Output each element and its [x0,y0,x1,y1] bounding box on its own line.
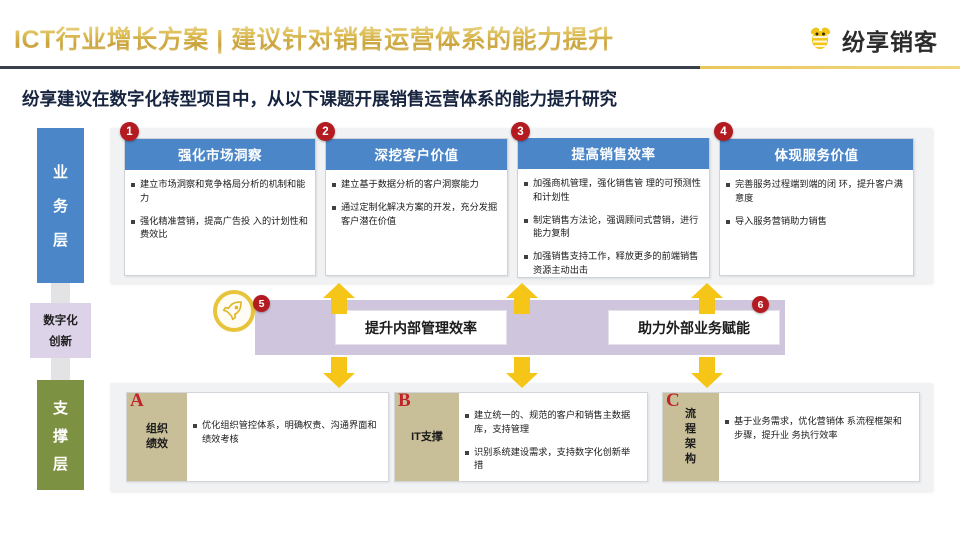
rocket-icon [213,290,255,332]
layer-char: 层 [53,229,68,250]
layer-char: 支 [53,397,68,418]
bullet-text: 建立统一的、规范的客户和销售主数据库，支持管理 [474,409,639,437]
brand-name: 纷享销客 [842,23,938,57]
bullet-item: 通过定制化解决方案的开发，充分发掘客户潜在价值 [332,201,500,229]
business-card-4-body: 完善服务过程端到端的闭 环，提升客户满意度 导入服务营销助力销售 [720,170,913,275]
bullet-item: 完善服务过程端到端的闭 环，提升客户满意度 [726,178,906,206]
business-card-4-title: 体现服务价值 [720,139,913,170]
bullet-marker-icon [332,206,336,210]
tag-char: 架 [685,437,697,452]
badge-5: 5 [253,295,270,312]
layer-label-support: 支 撑 层 [37,380,84,490]
bullet-text: 建立基于数据分析的客户洞察能力 [341,178,500,192]
layer-char: 数字化 [43,312,78,328]
tag-char: IT支撑 [411,430,443,445]
layer-label-digital: 数字化 创新 [30,303,91,358]
bullet-text: 加强销售支持工作，释放更多的前端销售资源主动出击 [533,250,702,278]
bullet-text: 建立市场洞察和竞争格局分析的机制和能力 [140,178,308,206]
bee-logo-icon [805,22,835,57]
bullet-text: 完善服务过程端到端的闭 环，提升客户满意度 [735,178,906,206]
layer-label-business: 业 务 层 [37,128,84,283]
layer-char: 创新 [49,333,72,349]
layer-char: 层 [53,453,68,474]
layer-connector-top [51,283,70,303]
bullet-item: 建立市场洞察和竞争格局分析的机制和能力 [131,178,308,206]
arrow-down-3-icon [690,357,724,388]
business-card-2-title: 深挖客户价值 [326,139,507,170]
arrow-up-3-icon [690,283,724,314]
bullet-marker-icon [332,183,336,187]
support-card-b-body: 建立统一的、规范的客户和销售主数据库，支持管理 识别系统建设需求，支持数字化创新… [459,393,647,481]
letter-badge-a: A [130,390,144,412]
bullet-marker-icon [726,220,730,224]
badge-1: 1 [120,122,139,141]
bullet-item: 建立基于数据分析的客户洞察能力 [332,178,500,192]
layer-char: 务 [53,195,68,216]
middle-box-external-enablement[interactable]: 助力外部业务赋能 [608,310,780,345]
bullet-item: 加强商机管理，强化销售管 理的可预测性和计划性 [524,177,702,205]
layer-char: 撑 [53,425,68,446]
support-card-a[interactable]: 组织 绩效 优化组织管控体系，明确权责、沟通界面和绩效考核 [126,392,389,482]
middle-box-internal-efficiency[interactable]: 提升内部管理效率 [335,310,507,345]
tag-char: 流 [685,407,697,422]
bullet-text: 导入服务营销助力销售 [735,215,906,229]
bullet-marker-icon [465,414,469,418]
bullet-item: 制定销售方法论，强调顾问式营销，进行能力复制 [524,214,702,242]
bullet-marker-icon [725,420,729,424]
support-card-c[interactable]: 流 程 架 构 基于业务需求，优化营销体 系流程框架和步骤，提升业 务执行效率 [662,392,920,482]
badge-6: 6 [752,296,769,313]
arrow-down-1-icon [322,357,356,388]
layer-char: 业 [53,161,68,182]
business-card-3-title: 提高销售效率 [518,138,709,169]
bullet-marker-icon [131,183,135,187]
bullet-marker-icon [726,183,730,187]
bullet-text: 制定销售方法论，强调顾问式营销，进行能力复制 [533,214,702,242]
arrow-up-2-icon [505,283,539,314]
business-card-2-body: 建立基于数据分析的客户洞察能力 通过定制化解决方案的开发，充分发掘客户潜在价值 [326,170,507,275]
bullet-text: 强化精准营销，提高广告投 入的计划性和费效比 [140,215,308,243]
bullet-marker-icon [524,255,528,259]
bullet-marker-icon [524,219,528,223]
support-card-b[interactable]: IT支撑 建立统一的、规范的客户和销售主数据库，支持管理 识别系统建设需求，支持… [394,392,648,482]
middle-box-1-label: 提升内部管理效率 [365,318,477,338]
support-card-c-body: 基于业务需求，优化营销体 系流程框架和步骤，提升业 务执行效率 [719,393,919,481]
business-card-3-body: 加强商机管理，强化销售管 理的可预测性和计划性 制定销售方法论，强调顾问式营销，… [518,169,709,293]
tag-char: 程 [685,422,697,437]
bullet-text: 通过定制化解决方案的开发，充分发掘客户潜在价值 [341,201,500,229]
bullet-marker-icon [131,220,135,224]
slide-root: ICT行业增长方案 | 建议针对销售运营体系的能力提升 纷享销客 纷享建议在数字… [0,0,960,540]
header-rule-gold [700,66,960,69]
business-card-2[interactable]: 深挖客户价值 建立基于数据分析的客户洞察能力 通过定制化解决方案的开发，充分发掘… [325,138,508,276]
bullet-text: 识别系统建设需求，支持数字化创新举措 [474,446,639,474]
middle-box-2-label: 助力外部业务赋能 [638,318,750,338]
bullet-item: 建立统一的、规范的客户和销售主数据库，支持管理 [465,409,639,437]
letter-badge-b: B [398,390,411,412]
bullet-item: 导入服务营销助力销售 [726,215,906,229]
brand-logo: 纷享销客 [805,22,938,57]
tag-char: 构 [685,452,697,467]
bullet-marker-icon [524,182,528,186]
arrow-up-1-icon [322,283,356,314]
business-card-4[interactable]: 体现服务价值 完善服务过程端到端的闭 环，提升客户满意度 导入服务营销助力销售 [719,138,914,276]
support-card-a-body: 优化组织管控体系，明确权责、沟通界面和绩效考核 [187,393,388,481]
bullet-text: 优化组织管控体系，明确权责、沟通界面和绩效考核 [202,419,380,447]
badge-4: 4 [714,122,733,141]
page-title: ICT行业增长方案 | 建议针对销售运营体系的能力提升 [14,20,614,56]
bullet-item: 强化精准营销，提高广告投 入的计划性和费效比 [131,215,308,243]
business-card-3[interactable]: 提高销售效率 加强商机管理，强化销售管 理的可预测性和计划性 制定销售方法论，强… [517,138,710,278]
header-rule-dark [0,66,700,69]
slide-header: ICT行业增长方案 | 建议针对销售运营体系的能力提升 纷享销客 [0,0,960,72]
bullet-text: 基于业务需求，优化营销体 系流程框架和步骤，提升业 务执行效率 [734,415,911,443]
slide-subtitle: 纷享建议在数字化转型项目中，从以下课题开展销售运营体系的能力提升研究 [22,86,617,111]
bullet-item: 加强销售支持工作，释放更多的前端销售资源主动出击 [524,250,702,278]
badge-2: 2 [316,122,335,141]
letter-badge-c: C [666,390,680,412]
bullet-item: 优化组织管控体系，明确权责、沟通界面和绩效考核 [193,419,380,447]
business-card-1[interactable]: 强化市场洞察 建立市场洞察和竞争格局分析的机制和能力 强化精准营销，提高广告投 … [124,138,316,276]
bullet-marker-icon [465,451,469,455]
tag-char: 绩效 [146,437,168,452]
business-card-1-body: 建立市场洞察和竞争格局分析的机制和能力 强化精准营销，提高广告投 入的计划性和费… [125,170,315,275]
business-card-1-title: 强化市场洞察 [125,139,315,170]
bullet-text: 加强商机管理，强化销售管 理的可预测性和计划性 [533,177,702,205]
tag-char: 组织 [146,422,168,437]
layer-connector-bottom [51,358,70,380]
arrow-down-2-icon [505,357,539,388]
badge-3: 3 [511,122,530,141]
bullet-item: 基于业务需求，优化营销体 系流程框架和步骤，提升业 务执行效率 [725,415,911,443]
bullet-item: 识别系统建设需求，支持数字化创新举措 [465,446,639,474]
bullet-marker-icon [193,424,197,428]
